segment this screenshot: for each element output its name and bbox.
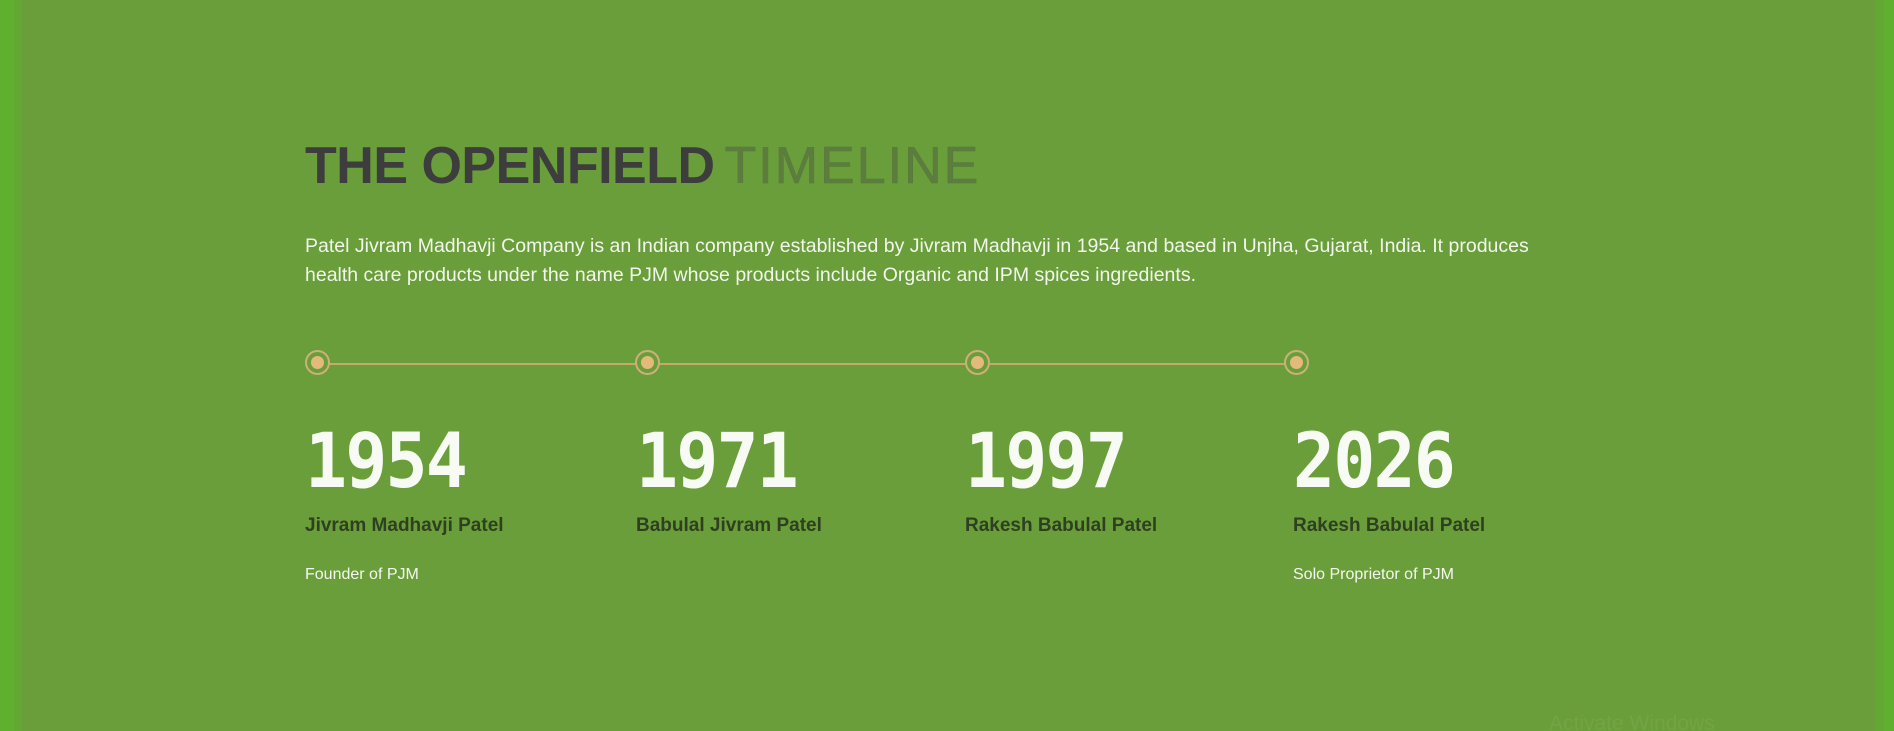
left-edge-strip-inner [14, 0, 22, 731]
timeline-node-1997[interactable] [965, 350, 990, 375]
page-title-light: TIMELINE [725, 137, 981, 195]
right-edge-strip [1884, 0, 1894, 731]
timeline-rail [305, 350, 1309, 378]
timeline-entry-year: 1971 [636, 423, 807, 499]
timeline-entry-1997[interactable]: 1997 Rakesh Babulal Patel [965, 423, 1157, 586]
content-container: THE OPENFIELDTIMELINE Patel Jivram Madha… [305, 0, 1865, 643]
timeline-entry-role: Solo Proprietor of PJM [1293, 566, 1485, 586]
timeline-entry-person: Jivram Madhavji Patel [305, 515, 504, 537]
timeline-node-2026[interactable] [1284, 350, 1309, 375]
timeline-page: THE OPENFIELDTIMELINE Patel Jivram Madha… [22, 0, 1875, 731]
timeline-entries: 1954 Jivram Madhavji Patel Founder of PJ… [305, 423, 1865, 643]
timeline-node-1971[interactable] [635, 350, 660, 375]
timeline-entry-year: 2026 [1293, 423, 1470, 499]
timeline-entry-person: Babulal Jivram Patel [636, 515, 822, 537]
timeline-node-1954[interactable] [305, 350, 330, 375]
timeline-entry-year: 1954 [305, 423, 488, 499]
page-title: THE OPENFIELDTIMELINE [305, 140, 1865, 192]
watermark-title: Activate Windows [1549, 711, 1770, 731]
right-edge-strip-inner [1875, 0, 1884, 731]
timeline-entry-1971[interactable]: 1971 Babulal Jivram Patel [636, 423, 822, 586]
timeline-entry-role [636, 566, 822, 586]
left-edge-strip [0, 0, 14, 731]
timeline-entry-role [965, 566, 1157, 586]
timeline-rail-line [315, 363, 1299, 365]
page-title-strong: THE OPENFIELD [305, 137, 715, 195]
intro-paragraph: Patel Jivram Madhavji Company is an Indi… [305, 232, 1580, 290]
timeline-entry-year: 1997 [965, 423, 1142, 499]
timeline-entry-2026[interactable]: 2026 Rakesh Babulal Patel Solo Proprieto… [1293, 423, 1485, 586]
windows-activation-watermark: Activate Windows Go to Settings to activ… [1549, 711, 1770, 731]
timeline-entry-person: Rakesh Babulal Patel [1293, 515, 1485, 537]
timeline-entry-role: Founder of PJM [305, 566, 504, 586]
timeline-entry-1954[interactable]: 1954 Jivram Madhavji Patel Founder of PJ… [305, 423, 504, 586]
timeline-entry-person: Rakesh Babulal Patel [965, 515, 1157, 537]
